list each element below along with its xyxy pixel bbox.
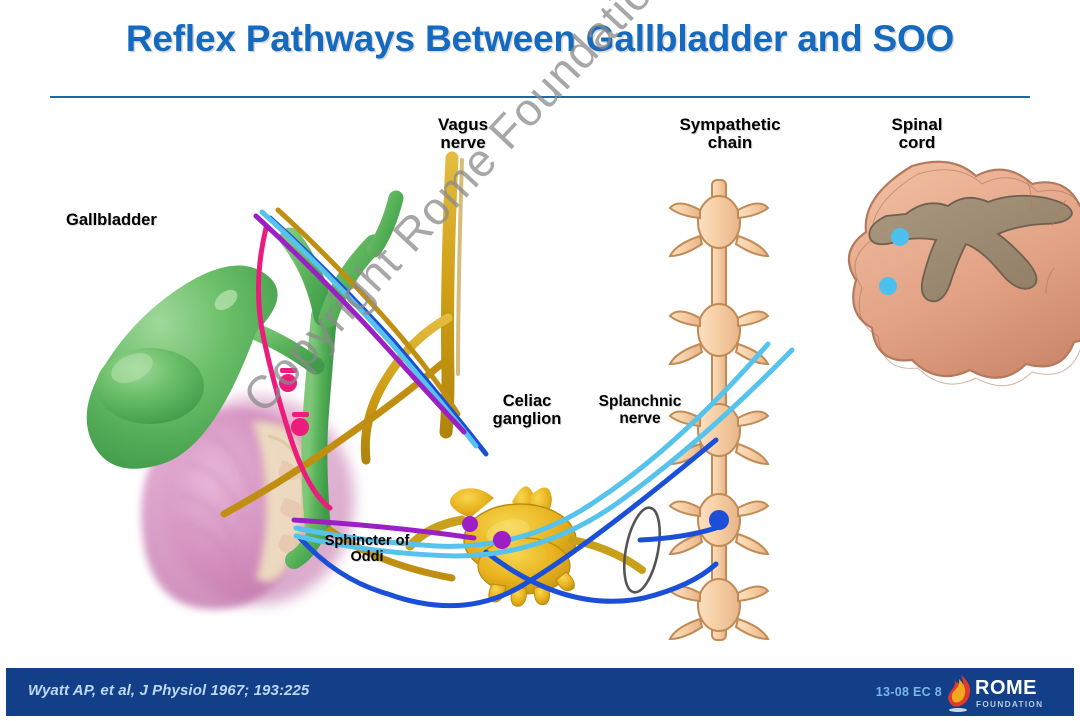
citation-text: Wyatt AP, et al, J Physiol 1967; 193:225 [28,682,309,699]
page-title: Reflex Pathways Between Gallbladder and … [0,18,1080,60]
rome-foundation-logo: ROME FOUNDATION [944,672,1064,714]
spinal-cord-graphic [849,162,1080,386]
logo-subtitle: FOUNDATION [976,700,1043,709]
slide-canvas: Reflex Pathways Between Gallbladder and … [0,0,1080,721]
logo-wordmark: ROME [975,677,1037,699]
anatomy-diagram [0,100,1080,660]
splanchnic-nerve-marker [618,505,666,596]
slide-code: 13-08 EC 8 [876,685,942,699]
sympathetic-chain-graphic [670,180,768,640]
title-container: Reflex Pathways Between Gallbladder and … [0,18,1080,60]
chain-synapse-dot [709,510,729,530]
footer-bar: Wyatt AP, et al, J Physiol 1967; 193:225… [6,668,1074,716]
flame-icon [948,675,970,712]
title-divider [50,96,1030,98]
